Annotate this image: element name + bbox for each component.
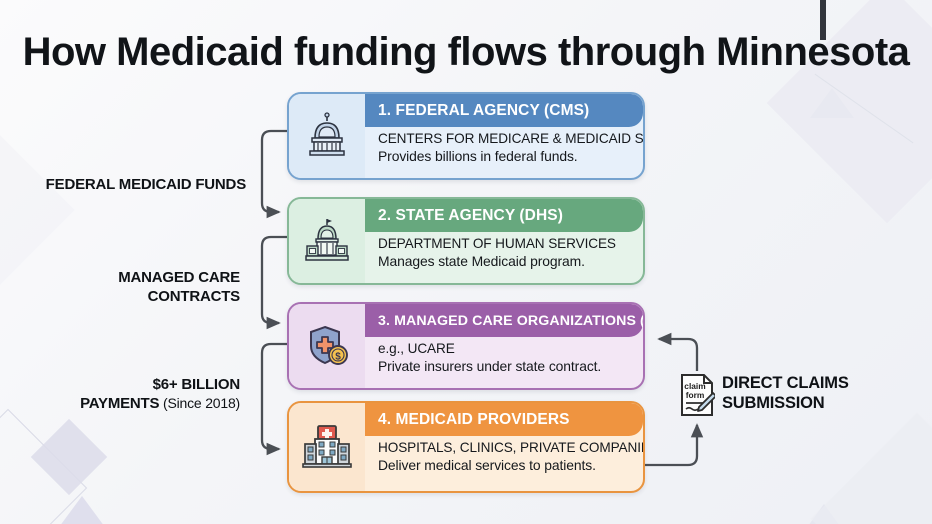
- flow-card-federal-agency[interactable]: 1. FEDERAL AGENCY (CMS) CENTERS FOR MEDI…: [287, 92, 645, 180]
- card-header-title: 1. FEDERAL AGENCY (CMS): [365, 94, 643, 127]
- svg-text:$: $: [335, 351, 341, 362]
- stage-label-line1: FEDERAL MEDICAID FUNDS: [0, 175, 246, 194]
- card-body-line1: CENTERS FOR MEDICARE & MEDICAID SERVICES: [378, 130, 635, 147]
- card-body-line2: Provides billions in federal funds.: [378, 147, 635, 165]
- stage-label-line2: SUBMISSION: [722, 393, 849, 413]
- background-triangle-bottom-left: [48, 496, 116, 524]
- background-diamond-outline-bottom-left: [0, 409, 87, 524]
- claim-form-icon: claim form: [679, 373, 715, 417]
- flow-card-managed-care[interactable]: $ 3. MANAGED CARE ORGANIZATIONS (MCOs) e…: [287, 302, 645, 390]
- stage-label-line2: PAYMENTS: [80, 395, 159, 412]
- card-body-line1: e.g., UCARE: [378, 340, 635, 357]
- state-capitol-icon: [289, 199, 365, 283]
- card-body-line1: HOSPITALS, CLINICS, PRIVATE COMPANIES: [378, 439, 635, 456]
- stage-label-since: (Since 2018): [159, 395, 240, 411]
- stage-label-line1: $6+ BILLION: [0, 375, 240, 394]
- stage-label-direct-claims: DIRECT CLAIMS SUBMISSION: [722, 373, 849, 413]
- card-header-title: 3. MANAGED CARE ORGANIZATIONS (MCOs): [365, 304, 643, 337]
- connector-federal-to-state: [262, 131, 287, 212]
- flow-card-medicaid-providers[interactable]: 4. MEDICAID PROVIDERS HOSPITALS, CLINICS…: [287, 401, 645, 493]
- connector-state-to-mco: [262, 237, 287, 323]
- card-body: DEPARTMENT OF HUMAN SERVICES Manages sta…: [365, 235, 635, 270]
- card-body-line2: Private insurers under state contract.: [378, 357, 635, 375]
- stage-label-line1: DIRECT CLAIMS: [722, 373, 849, 393]
- background-diamond-bottom-left: [31, 419, 107, 495]
- claim-form-label-line2: form: [686, 390, 705, 400]
- background-triangle-top-right: [810, 88, 854, 118]
- stage-label-federal-funds: FEDERAL MEDICAID FUNDS: [0, 175, 246, 194]
- capitol-dome-icon: [289, 94, 365, 178]
- page-title: How Medicaid funding flows through Minne…: [0, 30, 932, 75]
- infographic-canvas: How Medicaid funding flows through Minne…: [0, 0, 932, 524]
- card-body-line1: DEPARTMENT OF HUMAN SERVICES: [378, 235, 635, 252]
- background-line-top-right: [815, 74, 914, 144]
- shield-dollar-icon: $: [289, 304, 365, 388]
- stage-label-line2: CONTRACTS: [0, 287, 240, 306]
- card-body: e.g., UCARE Private insurers under state…: [365, 340, 635, 375]
- card-header-title: 2. STATE AGENCY (DHS): [365, 199, 643, 232]
- stage-label-managed-care-contracts: MANAGED CARE CONTRACTS: [0, 268, 240, 306]
- connector-claim-to-mco: [659, 339, 697, 371]
- card-body-line2: Manages state Medicaid program.: [378, 252, 635, 270]
- stage-label-line2-wrap: PAYMENTS (Since 2018): [0, 394, 240, 413]
- stage-label-payments: $6+ BILLION PAYMENTS (Since 2018): [0, 375, 240, 413]
- card-body: CENTERS FOR MEDICARE & MEDICAID SERVICES…: [365, 130, 635, 165]
- connector-mco-to-provider: [262, 344, 287, 449]
- background-square-bottom-right: [811, 413, 932, 524]
- card-body-line2: Deliver medical services to patients.: [378, 456, 635, 474]
- flow-card-state-agency[interactable]: 2. STATE AGENCY (DHS) DEPARTMENT OF HUMA…: [287, 197, 645, 285]
- card-header-title: 4. MEDICAID PROVIDERS: [365, 403, 643, 436]
- hospital-icon: [289, 403, 365, 491]
- stage-label-line1: MANAGED CARE: [0, 268, 240, 287]
- connector-provider-to-claim: [645, 425, 697, 465]
- card-body: HOSPITALS, CLINICS, PRIVATE COMPANIES De…: [365, 439, 635, 474]
- background-triangle-bottom-right: [798, 504, 850, 524]
